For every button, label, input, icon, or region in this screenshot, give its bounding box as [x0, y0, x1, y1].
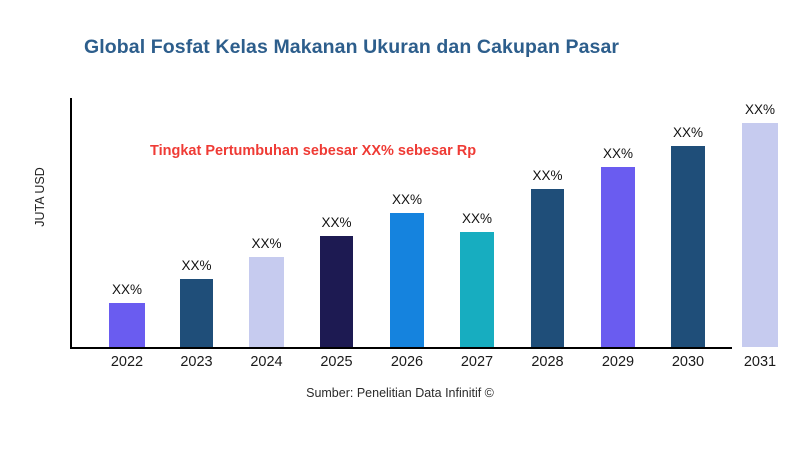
bar-value-label: XX% [588, 146, 648, 161]
x-tick-label-2029: 2029 [588, 354, 648, 370]
bar-value-label: XX% [447, 211, 507, 226]
bar-value-label: XX% [658, 125, 718, 140]
x-tick-label-2030: 2030 [658, 354, 718, 370]
bar-chart: Global Fosfat Kelas Makanan Ukuran dan C… [0, 0, 800, 450]
bar[interactable] [601, 167, 635, 347]
x-tick-label-2031: 2031 [730, 354, 790, 370]
source-note: Sumber: Penelitian Data Infinitif © [0, 386, 800, 400]
bar-value-label: XX% [97, 282, 157, 297]
x-tick-label-2028: 2028 [518, 354, 578, 370]
bar-value-label: XX% [237, 236, 297, 251]
bar[interactable] [531, 189, 564, 347]
x-tick-label-2025: 2025 [307, 354, 367, 370]
bar[interactable] [320, 236, 353, 347]
bar-value-label: XX% [167, 258, 227, 273]
bar-value-label: XX% [377, 192, 437, 207]
x-tick-label-2024: 2024 [237, 354, 297, 370]
bar[interactable] [390, 213, 424, 347]
bar[interactable] [671, 146, 705, 347]
bar-value-label: XX% [307, 215, 367, 230]
bar[interactable] [109, 303, 145, 347]
x-tick-label-2023: 2023 [167, 354, 227, 370]
x-tick-label-2022: 2022 [97, 354, 157, 370]
bar-value-label: XX% [730, 102, 790, 117]
x-tick-label-2027: 2027 [447, 354, 507, 370]
bar[interactable] [742, 123, 778, 347]
bar[interactable] [180, 279, 213, 347]
bar[interactable] [249, 257, 284, 347]
bar-value-label: XX% [518, 168, 578, 183]
plot-area: XX%2022XX%2023XX%2024XX%2025XX%2026XX%20… [0, 0, 800, 450]
bar[interactable] [460, 232, 494, 347]
x-tick-label-2026: 2026 [377, 354, 437, 370]
